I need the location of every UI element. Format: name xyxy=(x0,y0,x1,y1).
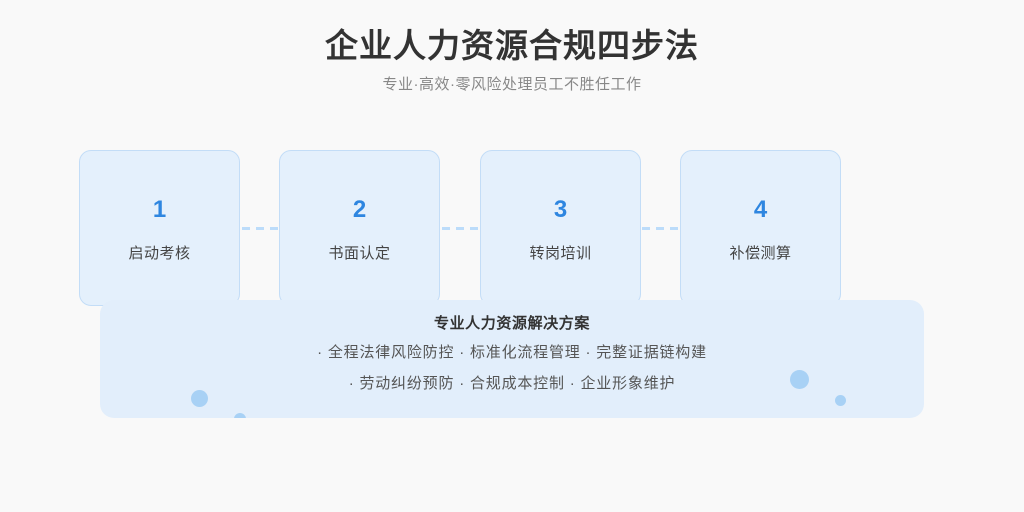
step-number: 2 xyxy=(280,198,439,222)
step-card-2[interactable]: 2 书面认定 xyxy=(279,150,440,306)
dashed-connector-icon xyxy=(442,227,482,230)
decorative-dot-icon xyxy=(191,390,208,407)
step-card-1[interactable]: 1 启动考核 xyxy=(79,150,240,306)
step-label: 启动考核 xyxy=(80,243,239,264)
panel-feature-line-1: · 全程法律风险防控 · 标准化流程管理 · 完整证据链构建 xyxy=(100,342,924,363)
step-card-3[interactable]: 3 转岗培训 xyxy=(480,150,641,306)
dashed-connector-icon xyxy=(642,227,682,230)
decorative-dot-icon xyxy=(790,370,809,389)
step-card-row: 1 启动考核 2 书面认定 3 转岗培训 4 补偿测算 xyxy=(79,150,841,306)
decorative-dot-icon xyxy=(234,413,246,418)
step-label: 书面认定 xyxy=(280,243,439,264)
dashed-connector-icon xyxy=(242,227,282,230)
infographic-canvas: 企业人力资源合规四步法 专业·高效·零风险处理员工不胜任工作 1 启动考核 2 … xyxy=(0,0,1024,512)
decorative-dot-icon xyxy=(835,395,846,406)
step-number: 4 xyxy=(681,198,840,222)
step-label: 补偿测算 xyxy=(681,243,840,264)
step-card-4[interactable]: 4 补偿测算 xyxy=(680,150,841,306)
page-title: 企业人力资源合规四步法 xyxy=(0,25,1024,66)
step-number: 3 xyxy=(481,198,640,222)
step-number: 1 xyxy=(80,198,239,222)
step-label: 转岗培训 xyxy=(481,243,640,264)
solution-panel: 专业人力资源解决方案 · 全程法律风险防控 · 标准化流程管理 · 完整证据链构… xyxy=(100,300,924,418)
panel-heading: 专业人力资源解决方案 xyxy=(100,313,924,334)
page-subtitle: 专业·高效·零风险处理员工不胜任工作 xyxy=(0,74,1024,97)
